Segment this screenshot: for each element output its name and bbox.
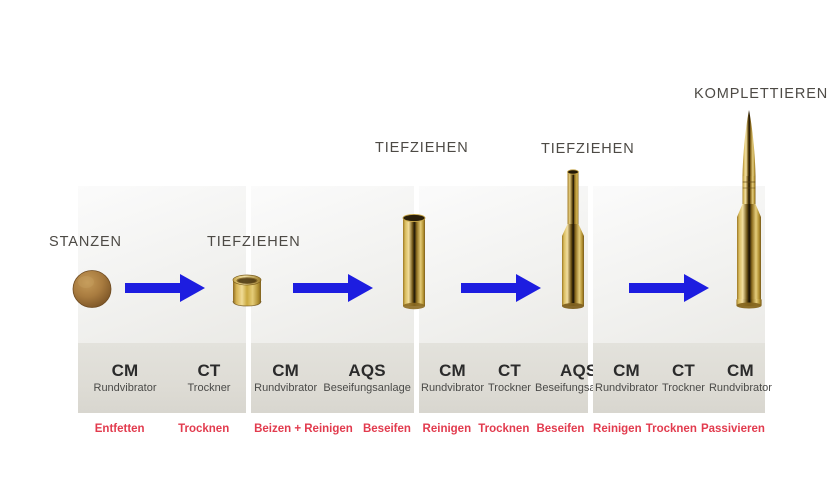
capability-code: CT bbox=[187, 361, 230, 380]
capability-box-3: CM Rundvibrator CT Trockner AQS Beseifun… bbox=[419, 343, 588, 413]
capability-machine: Trockner bbox=[488, 382, 531, 394]
part-complete-cartridge bbox=[733, 110, 765, 310]
capability-code: CM bbox=[421, 361, 484, 380]
process-word: Beseifen bbox=[534, 423, 586, 435]
process-word: Trocknen bbox=[176, 423, 231, 435]
capability-1-1: CM Rundvibrator bbox=[92, 361, 159, 394]
capability-machine: Rundvibrator bbox=[709, 382, 772, 394]
capability-4-1: CM Rundvibrator bbox=[593, 361, 660, 394]
step-label-tiefziehen-3: TIEFZIEHEN bbox=[541, 141, 635, 157]
capability-2-2: AQS Beseifungsanlage bbox=[321, 361, 412, 394]
capability-4-2: CT Trockner bbox=[660, 361, 707, 394]
step-label-komplettieren: KOMPLETTIEREN bbox=[694, 86, 828, 102]
step-label-stanzen: STANZEN bbox=[49, 234, 122, 250]
process-word: Entfetten bbox=[93, 423, 147, 435]
capability-box-1: CM Rundvibrator CT Trockner bbox=[78, 343, 246, 413]
capability-machine: Trockner bbox=[187, 382, 230, 394]
process-word: Passivieren bbox=[699, 423, 767, 435]
part-necked-case bbox=[558, 168, 588, 310]
process-row-3: Reinigen Trocknen Beseifen bbox=[419, 420, 588, 438]
capability-code: AQS bbox=[323, 361, 410, 380]
capability-machine: Rundvibrator bbox=[421, 382, 484, 394]
capability-code: CM bbox=[595, 361, 658, 380]
process-word: Beseifen bbox=[361, 423, 413, 435]
capability-box-2: CM Rundvibrator AQS Beseifungsanlage bbox=[251, 343, 414, 413]
capability-3-1: CM Rundvibrator bbox=[419, 361, 486, 394]
arrow-3 bbox=[461, 272, 541, 304]
capability-code: CM bbox=[254, 361, 317, 380]
process-word: Trocknen bbox=[476, 423, 531, 435]
step-label-tiefziehen-1: TIEFZIEHEN bbox=[207, 234, 301, 250]
capability-code: CM bbox=[94, 361, 157, 380]
process-word: Beizen + Reinigen bbox=[252, 423, 355, 435]
arrow-1 bbox=[125, 272, 205, 304]
capability-2-1: CM Rundvibrator bbox=[252, 361, 319, 394]
capability-code: CM bbox=[709, 361, 772, 380]
capability-4-3: CM Rundvibrator bbox=[707, 361, 774, 394]
capability-1-2: CT Trockner bbox=[185, 361, 232, 394]
process-word: Reinigen bbox=[421, 423, 474, 435]
capability-machine: Rundvibrator bbox=[595, 382, 658, 394]
part-drawn-cup bbox=[226, 271, 268, 311]
process-flow-diagram: STANZEN TIEFZIEHEN TIEFZIEHEN TIEFZIEHEN… bbox=[0, 0, 840, 488]
arrow-4 bbox=[629, 272, 709, 304]
part-brass-disc-blank bbox=[71, 268, 113, 310]
capability-machine: Beseifungsanlage bbox=[323, 382, 410, 394]
arrow-2 bbox=[293, 272, 373, 304]
process-word: Trocknen bbox=[644, 423, 699, 435]
capability-3-2: CT Trockner bbox=[486, 361, 533, 394]
capability-box-4: CM Rundvibrator CT Trockner CM Rundvibra… bbox=[593, 343, 765, 413]
step-label-tiefziehen-2: TIEFZIEHEN bbox=[375, 140, 469, 156]
capability-machine: Rundvibrator bbox=[254, 382, 317, 394]
process-row-2: Beizen + Reinigen Beseifen bbox=[249, 420, 416, 438]
part-drawn-tube bbox=[400, 212, 428, 310]
capability-machine: Rundvibrator bbox=[94, 382, 157, 394]
process-row-4: Reinigen Trocknen Passivieren bbox=[591, 420, 767, 438]
capability-code: CT bbox=[488, 361, 531, 380]
process-row-1: Entfetten Trocknen bbox=[78, 420, 246, 438]
capability-machine: Trockner bbox=[662, 382, 705, 394]
process-word: Reinigen bbox=[591, 423, 644, 435]
capability-code: CT bbox=[662, 361, 705, 380]
